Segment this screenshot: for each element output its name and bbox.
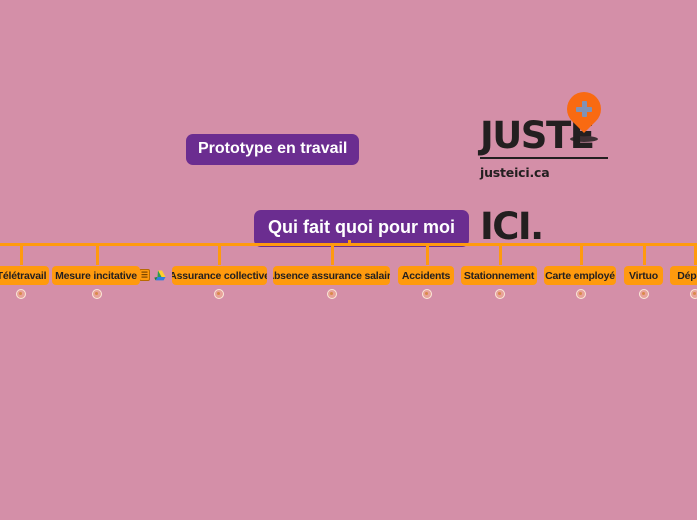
connector-drop	[643, 243, 646, 265]
logo-divider	[480, 157, 608, 159]
tab-stationnement[interactable]: Stationnement	[461, 266, 537, 285]
connector-drop	[331, 243, 334, 265]
connector-drop	[20, 243, 23, 265]
tab-virtuo[interactable]: Virtuo	[624, 266, 663, 285]
tab-carte-employe[interactable]: Carte employé	[544, 266, 616, 285]
connector-drop	[426, 243, 429, 265]
plus-icon	[576, 101, 592, 117]
node-dot[interactable]	[495, 289, 505, 299]
node-dot[interactable]	[16, 289, 26, 299]
connector-drop	[218, 243, 221, 265]
tab-assurance-collective[interactable]: Assurance collective	[172, 266, 267, 285]
google-docs-icon[interactable]	[139, 268, 150, 286]
tab-mesure-incitative[interactable]: Mesure incitative	[52, 266, 140, 285]
connector-drop	[96, 243, 99, 265]
connector-drop	[580, 243, 583, 265]
tab-teletravail[interactable]: Télétravail	[0, 266, 49, 285]
node-dot[interactable]	[639, 289, 649, 299]
node-dot[interactable]	[576, 289, 586, 299]
logo-line-2: ICI.	[480, 212, 610, 242]
pin-shadow	[570, 136, 598, 142]
node-dot[interactable]	[422, 289, 432, 299]
node-dot[interactable]	[690, 289, 697, 299]
attachment-icons	[139, 268, 166, 286]
tab-absence-assurance-salaire[interactable]: Absence assurance salaire	[273, 266, 390, 285]
connector-rail	[0, 243, 697, 246]
tab-dep[interactable]: Dépô	[670, 266, 697, 285]
node-prototype-en-travail[interactable]: Prototype en travail	[186, 134, 359, 165]
node-dot[interactable]	[327, 289, 337, 299]
node-dot[interactable]	[92, 289, 102, 299]
google-drive-icon[interactable]	[154, 268, 166, 286]
map-pin-plus-icon	[562, 92, 606, 146]
logo-url: justeici.ca	[480, 165, 549, 180]
tab-accidents[interactable]: Accidents	[398, 266, 454, 285]
connector-drop	[499, 243, 502, 265]
node-dot[interactable]	[214, 289, 224, 299]
